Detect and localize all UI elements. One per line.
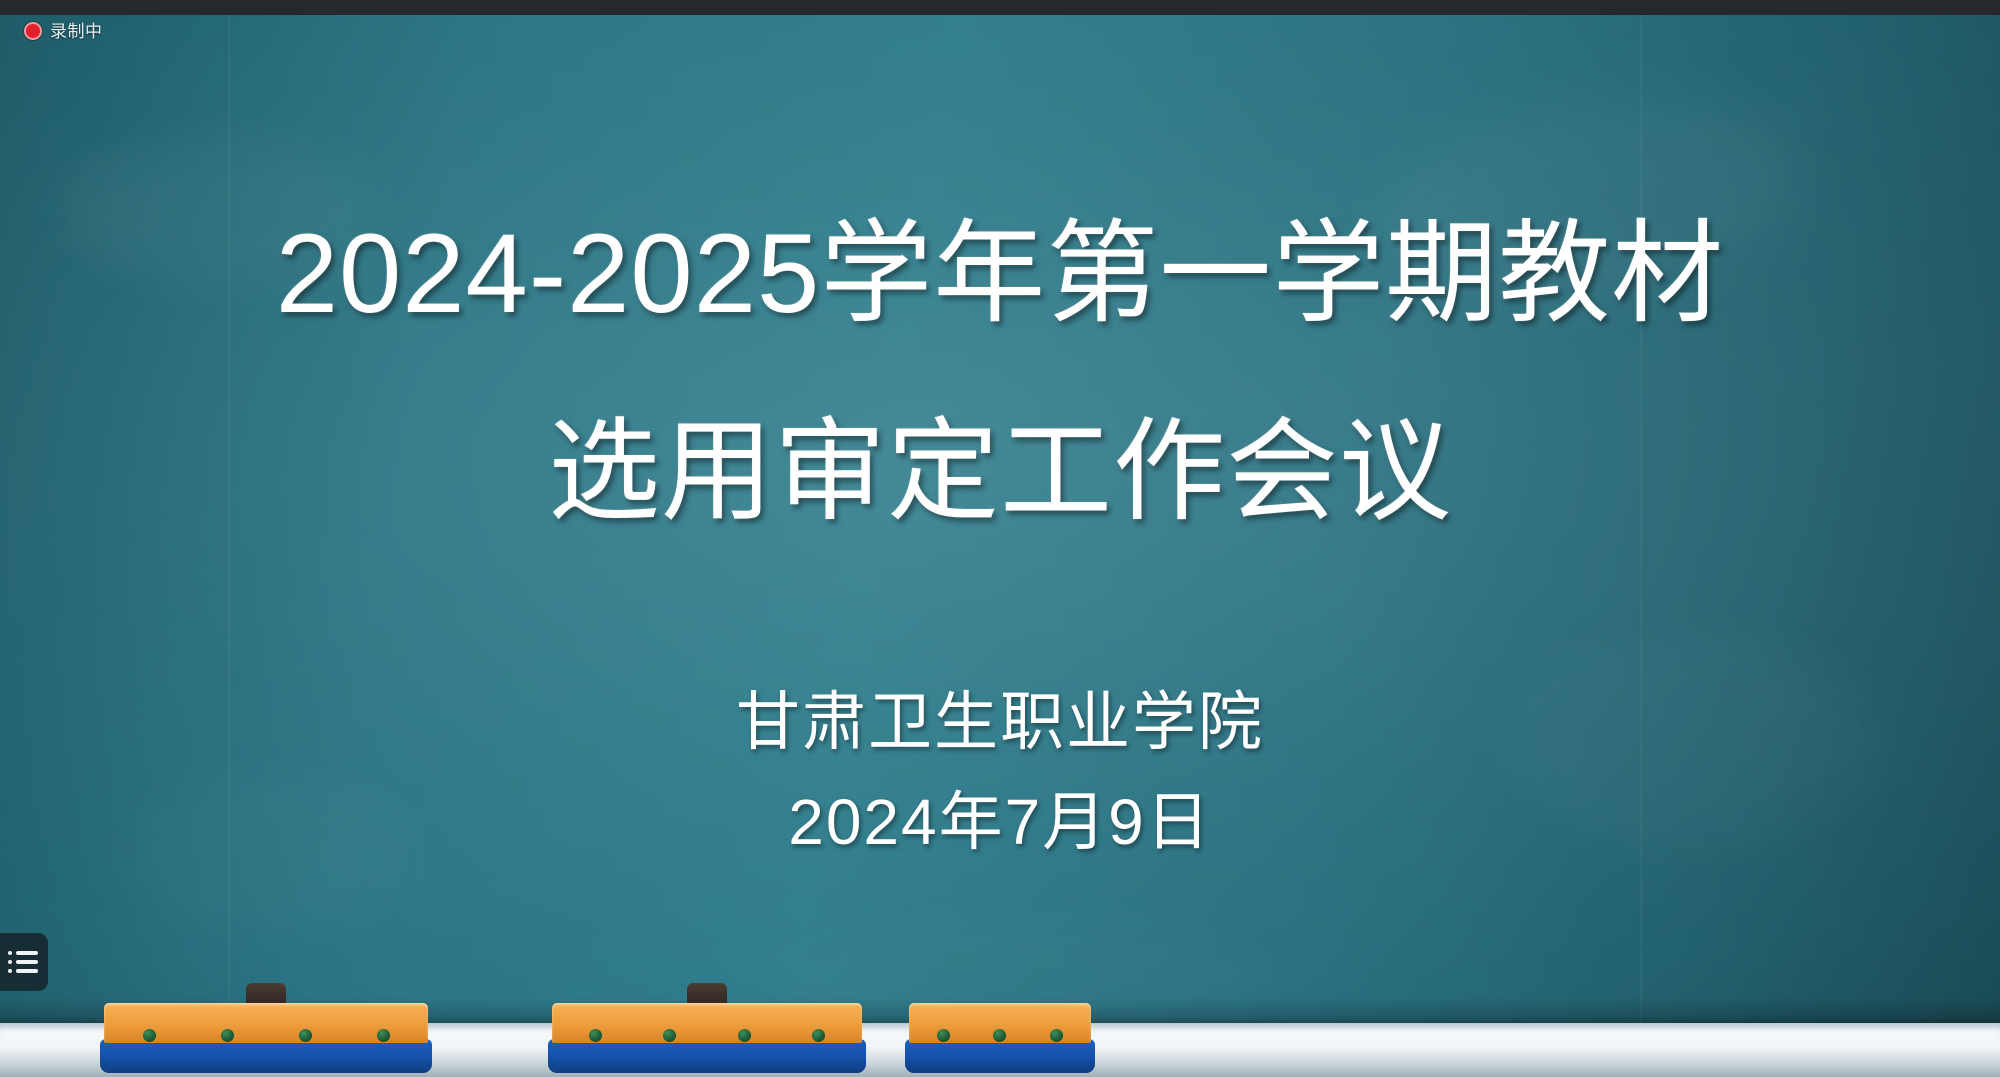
- list-bar: [16, 960, 38, 964]
- record-dot-icon: [24, 22, 42, 40]
- list-menu-icon-row: [8, 969, 38, 973]
- eraser-stud: [221, 1029, 234, 1042]
- eraser-stud: [589, 1029, 602, 1042]
- recording-badge: 录制中: [20, 20, 107, 42]
- participants-list-toggle[interactable]: [0, 933, 48, 991]
- chalkboard-surface: 2024-2025学年第一学期教材 选用审定工作会议 甘肃卫生职业学院 2024…: [0, 15, 2000, 1077]
- list-bar: [16, 951, 38, 955]
- presentation-slide: 2024-2025学年第一学期教材 选用审定工作会议 甘肃卫生职业学院 2024…: [0, 15, 2000, 1077]
- chalk-smudge: [60, 135, 380, 285]
- eraser-felt: [548, 1039, 866, 1073]
- eraser-stud: [143, 1029, 156, 1042]
- chalk-eraser: [548, 997, 866, 1059]
- board-seam: [1640, 15, 1642, 1077]
- chalk-eraser: [100, 997, 432, 1059]
- chalk-eraser: [905, 997, 1095, 1059]
- chalk-smudge: [1500, 635, 1880, 845]
- list-menu-icon-row: [8, 960, 38, 964]
- eraser-stud: [377, 1029, 390, 1042]
- screen-share-view: 2024-2025学年第一学期教材 选用审定工作会议 甘肃卫生职业学院 2024…: [0, 0, 2000, 1077]
- slide-subtitle-organization: 甘肃卫生职业学院: [0, 687, 2000, 759]
- eraser-stud: [738, 1029, 751, 1042]
- slide-title-line-2: 选用审定工作会议: [0, 413, 2000, 532]
- list-bullet: [8, 951, 12, 955]
- list-bullet: [8, 960, 12, 964]
- chalk-smudge: [120, 775, 420, 935]
- eraser-felt: [100, 1039, 432, 1073]
- eraser-studs: [915, 1029, 1085, 1041]
- eraser-stud: [993, 1029, 1006, 1042]
- slide-title-line-1: 2024-2025学年第一学期教材: [0, 215, 2000, 334]
- board-seam: [228, 15, 230, 1077]
- chalk-smudge: [1369, 77, 1811, 324]
- eraser-stud: [812, 1029, 825, 1042]
- eraser-studs: [558, 1029, 856, 1041]
- eraser-stud: [937, 1029, 950, 1042]
- list-menu-icon-row: [8, 951, 38, 955]
- list-bar: [16, 969, 38, 973]
- eraser-studs: [110, 1029, 422, 1041]
- eraser-stud: [1050, 1029, 1063, 1042]
- list-menu-icon: [8, 951, 38, 973]
- eraser-stud: [663, 1029, 676, 1042]
- recording-label: 录制中: [50, 23, 103, 40]
- window-chrome-bar: [0, 0, 2000, 15]
- eraser-felt: [905, 1039, 1095, 1073]
- slide-subtitle-date: 2024年7月9日: [0, 787, 2000, 859]
- list-bullet: [8, 969, 12, 973]
- eraser-stud: [299, 1029, 312, 1042]
